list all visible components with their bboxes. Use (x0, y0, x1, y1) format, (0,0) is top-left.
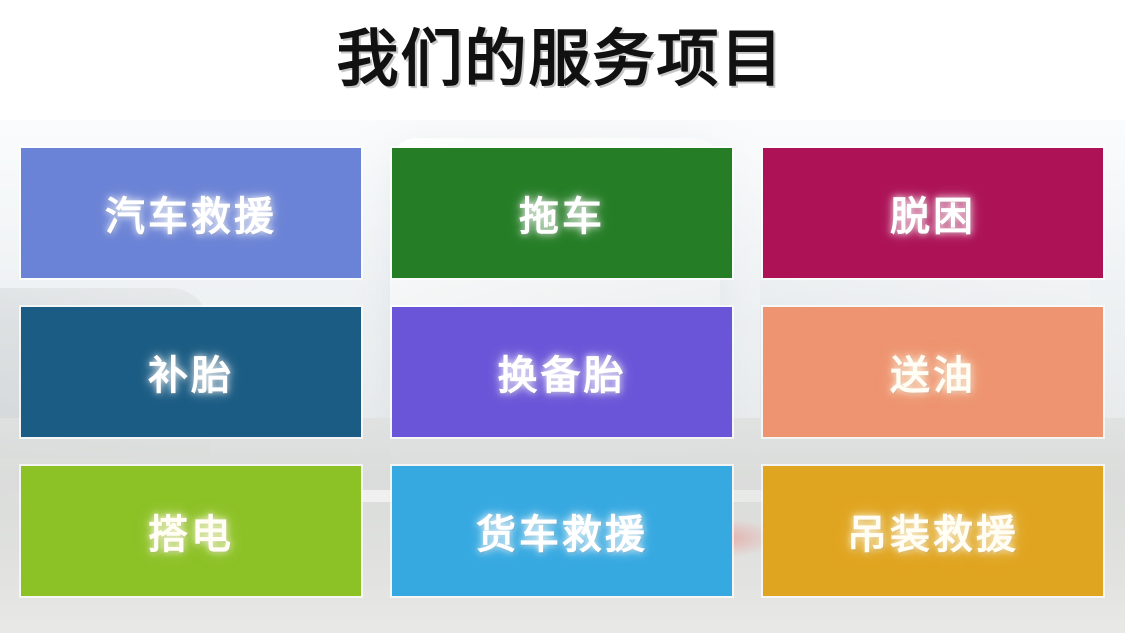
service-cell[interactable]: 汽车救援 (21, 148, 361, 278)
service-cell-label: 汽车救援 (105, 184, 277, 242)
service-cell-label: 补胎 (148, 343, 234, 401)
service-cell[interactable]: 脱困 (763, 148, 1103, 278)
service-cell[interactable]: 搭电 (21, 466, 361, 596)
service-cell-label: 吊装救援 (847, 502, 1019, 560)
service-cell-label: 脱困 (890, 184, 976, 242)
service-cell-label: 拖车 (519, 184, 605, 242)
service-grid: 汽车救援拖车脱困补胎换备胎送油搭电货车救援吊装救援 (21, 148, 1104, 596)
service-cell-label: 送油 (890, 343, 976, 401)
service-cell[interactable]: 吊装救援 (763, 466, 1103, 596)
service-poster: 我们的服务项目 汽车救援拖车脱困补胎换备胎送油搭电货车救援吊装救援 (0, 0, 1125, 633)
service-cell[interactable]: 换备胎 (392, 307, 732, 437)
service-cell[interactable]: 补胎 (21, 307, 361, 437)
service-cell-label: 换备胎 (498, 343, 627, 401)
service-cell[interactable]: 送油 (763, 307, 1103, 437)
page-title: 我们的服务项目 (336, 29, 784, 91)
title-band: 我们的服务项目 (0, 0, 1125, 120)
service-cell-label: 搭电 (148, 502, 234, 560)
service-cell[interactable]: 货车救援 (392, 466, 732, 596)
service-cell[interactable]: 拖车 (392, 148, 732, 278)
service-cell-label: 货车救援 (476, 502, 648, 560)
